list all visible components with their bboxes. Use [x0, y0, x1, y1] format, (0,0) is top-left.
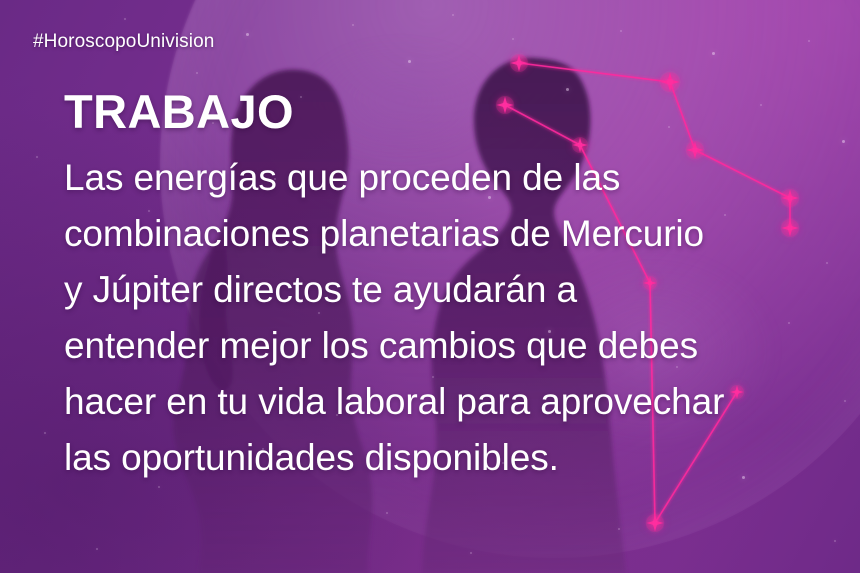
horoscope-body-text: Las energías que proceden de lascombinac…: [64, 150, 834, 486]
body-line: entender mejor los cambios que debes: [64, 318, 834, 374]
text-content: #HoroscopoUnivision TRABAJO Las energías…: [0, 0, 860, 573]
body-line: y Júpiter directos te ayudarán a: [64, 262, 834, 318]
body-line: Las energías que proceden de las: [64, 150, 834, 206]
brand-hashtag: #HoroscopoUnivision: [33, 31, 214, 53]
page-title: TRABAJO: [64, 88, 294, 135]
body-line: combinaciones planetarias de Mercurio: [64, 206, 834, 262]
body-line: hacer en tu vida laboral para aprovechar: [64, 374, 834, 430]
horoscope-card: #HoroscopoUnivision TRABAJO Las energías…: [0, 0, 860, 573]
body-line: las oportunidades disponibles.: [64, 430, 834, 486]
